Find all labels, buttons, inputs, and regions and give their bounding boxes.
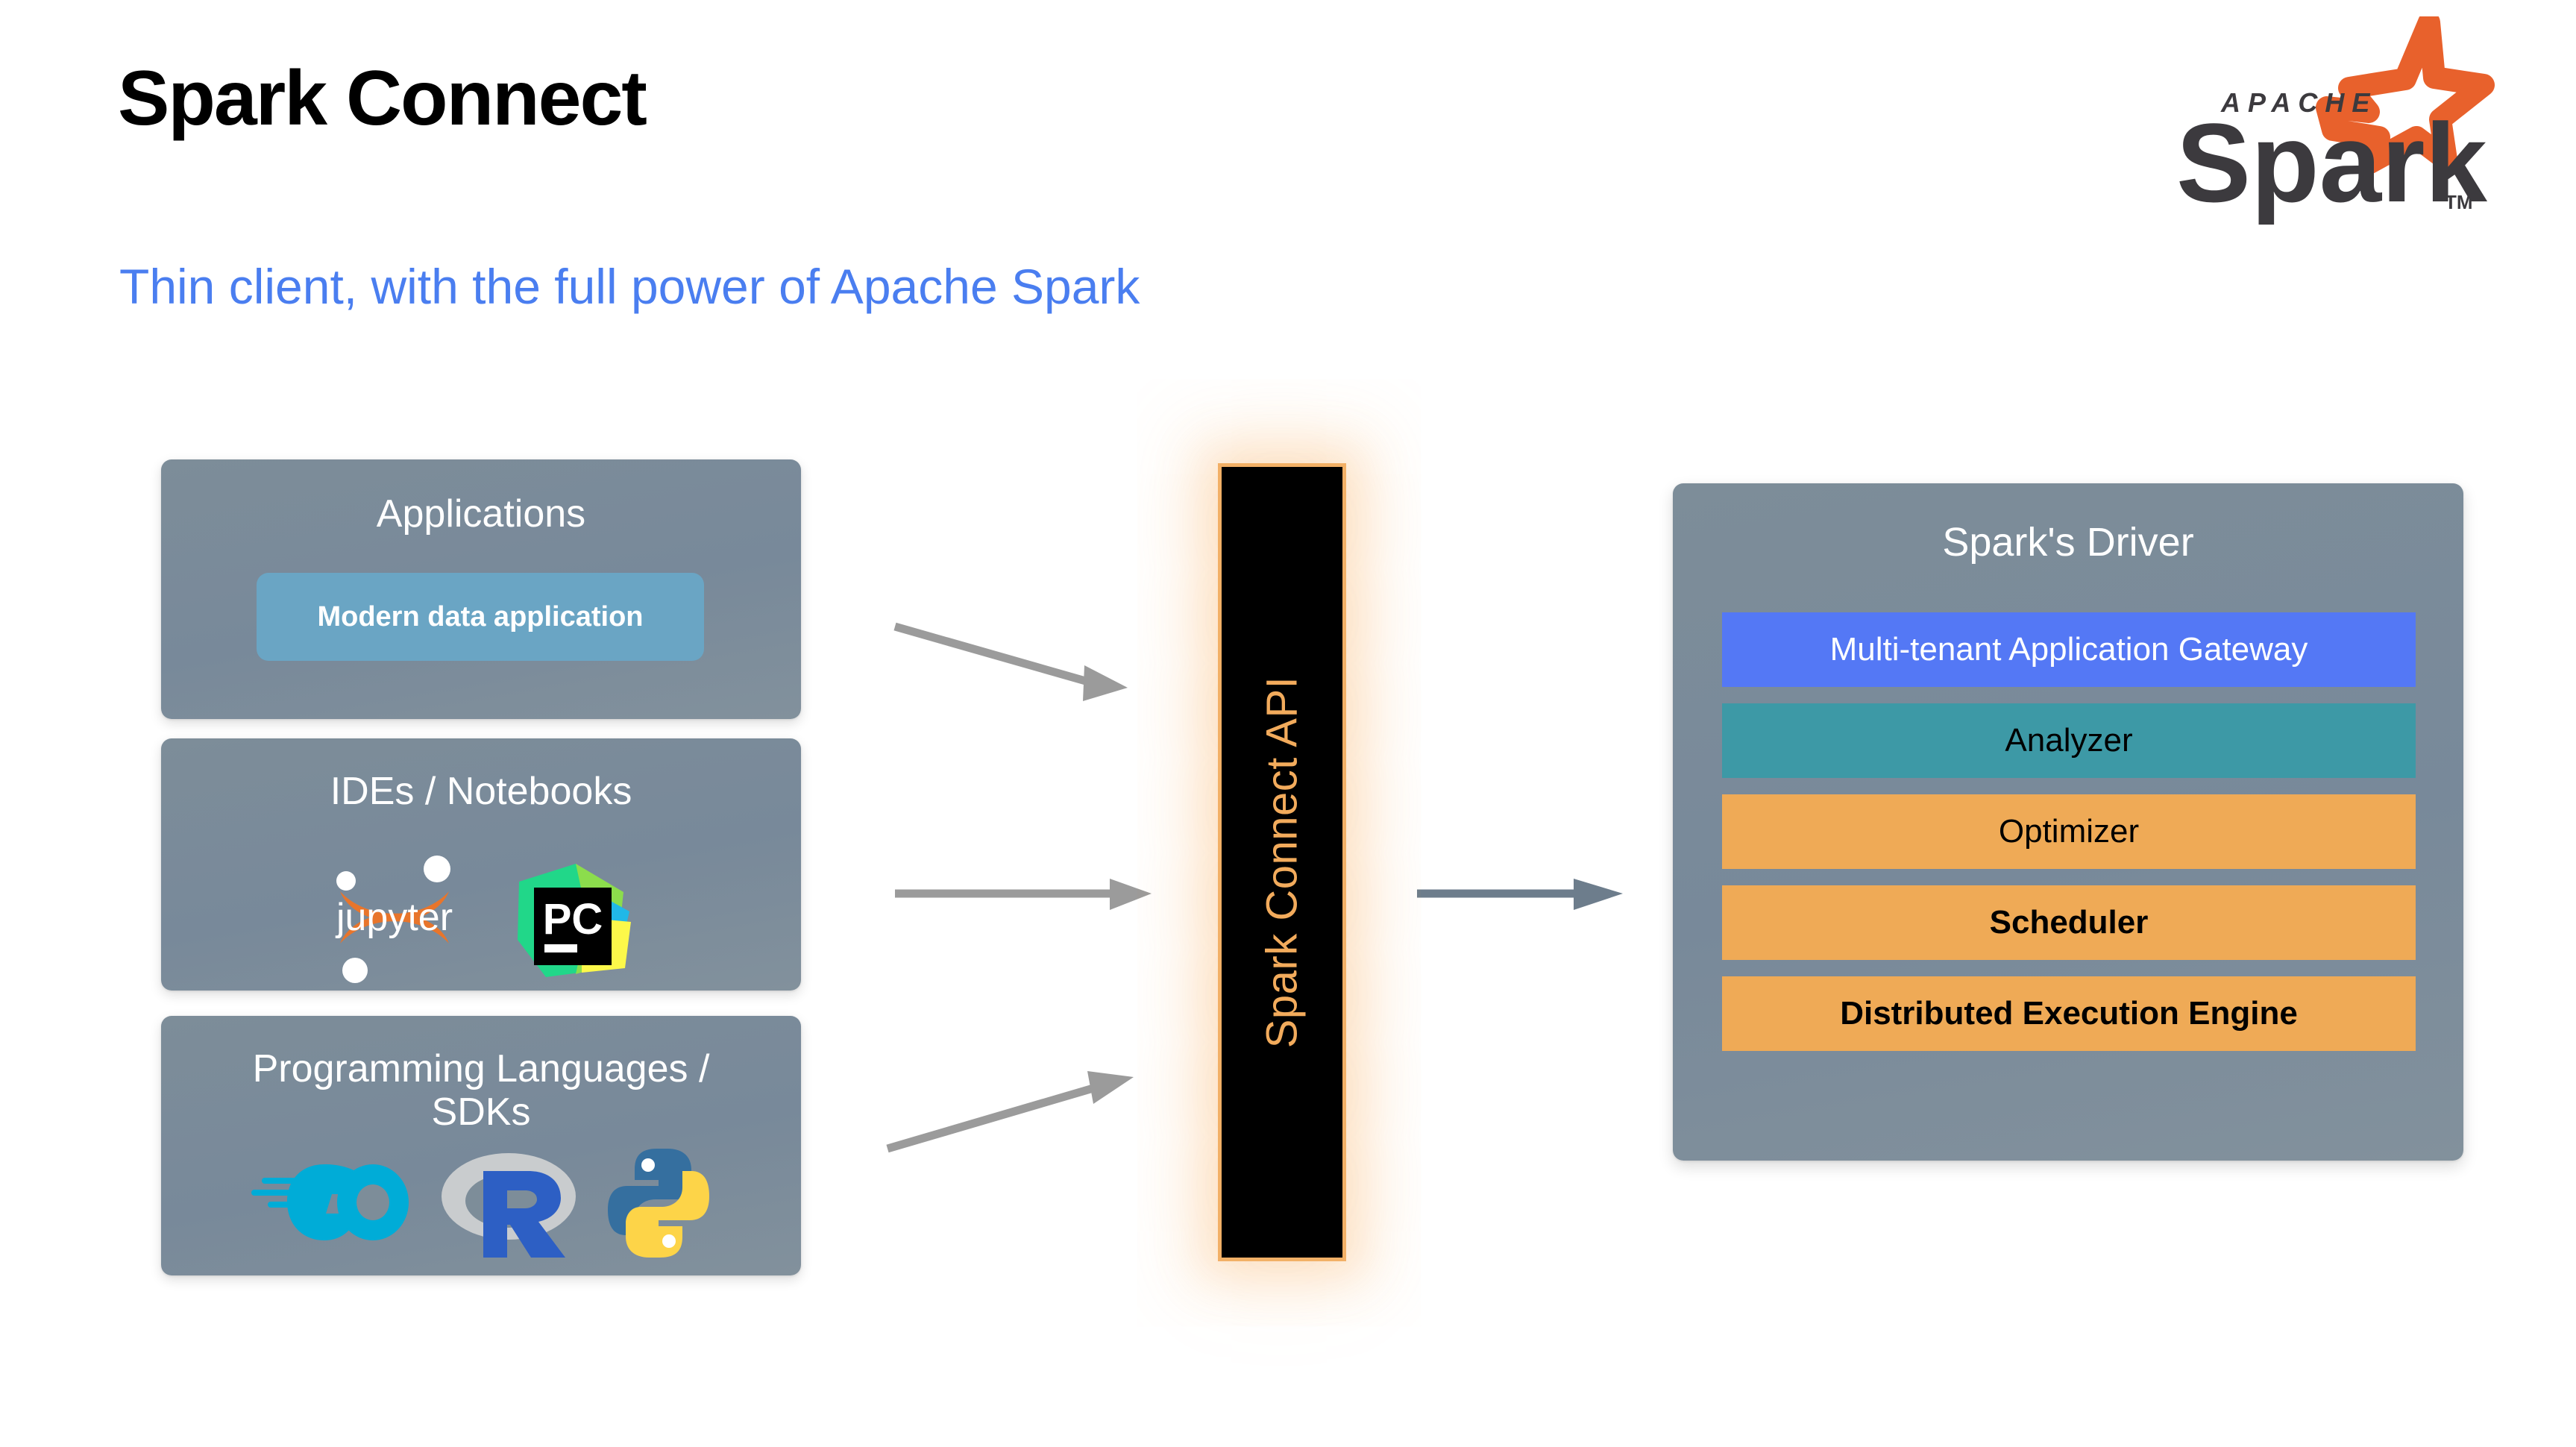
logo-tm-text: TM (2445, 191, 2473, 213)
driver-row-analyzer[interactable]: Analyzer (1722, 703, 2416, 778)
spark-driver-panel[interactable]: Spark's Driver Multi-tenant Application … (1673, 483, 2463, 1161)
client-box-title-line2: SDKs (432, 1090, 531, 1134)
driver-row-gateway[interactable]: Multi-tenant Application Gateway (1722, 612, 2416, 687)
client-box-programming-languages[interactable]: Programming Languages / SDKs (161, 1016, 801, 1275)
logo-spark-text: Spark (2176, 100, 2487, 225)
client-box-applications[interactable]: Applications Modern data application (161, 459, 801, 719)
python-logo (606, 1147, 711, 1263)
spark-connect-api-label: Spark Connect API (1257, 677, 1307, 1049)
client-box-title: Programming Languages / SDKs (161, 1047, 801, 1134)
spark-driver-component-stack: Multi-tenant Application Gateway Analyze… (1722, 612, 2416, 1051)
driver-row-distributed-execution-engine[interactable]: Distributed Execution Engine (1722, 976, 2416, 1051)
arrow-api-to-driver (1414, 858, 1630, 925)
jupyter-wordmark: jupyter (335, 896, 453, 939)
driver-row-scheduler[interactable]: Scheduler (1722, 885, 2416, 960)
client-box-title-line1: Programming Languages / (253, 1047, 710, 1090)
arrow-applications-to-api (892, 619, 1160, 716)
r-logo (440, 1147, 578, 1263)
pycharm-pc-text: PC (543, 895, 603, 944)
client-box-title: Applications (161, 492, 801, 536)
modern-data-application-chip[interactable]: Modern data application (257, 573, 704, 661)
spark-logo-svg: APACHE Spark TM (2133, 16, 2506, 233)
slide-canvas: Spark Connect Thin client, with the full… (0, 0, 2576, 1447)
ide-logo-row: jupyter PC (161, 850, 801, 988)
driver-row-optimizer[interactable]: Optimizer (1722, 794, 2416, 869)
spark-driver-title: Spark's Driver (1673, 519, 2463, 565)
arrow-ides-to-api (892, 858, 1160, 925)
page-subtitle: Thin client, with the full power of Apac… (119, 260, 1140, 314)
jupyter-logo: jupyter (324, 853, 465, 987)
pycharm-logo: PC (504, 850, 638, 988)
client-box-title: IDEs / Notebooks (161, 770, 801, 813)
language-logo-row (161, 1147, 801, 1263)
apache-spark-logo: APACHE Spark TM (2133, 16, 2506, 233)
arrow-languages-to-api (885, 1059, 1160, 1164)
page-title: Spark Connect (118, 58, 646, 139)
spark-connect-api-bar[interactable]: Spark Connect API (1218, 463, 1346, 1261)
go-logo (251, 1158, 412, 1252)
client-box-ides-notebooks[interactable]: IDEs / Notebooks jupyter (161, 738, 801, 991)
